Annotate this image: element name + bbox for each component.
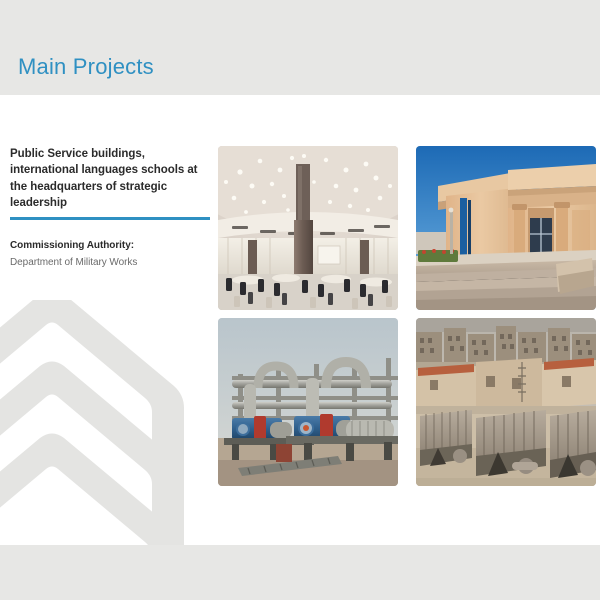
commissioning-authority: Commissioning Authority: Department of M… [10, 238, 215, 270]
photo-interior-hall[interactable] [218, 146, 398, 310]
commissioning-authority-label: Commissioning Authority: [10, 238, 215, 253]
commissioning-authority-value: Department of Military Works [10, 255, 215, 270]
photo-building-facade[interactable] [416, 146, 596, 310]
project-heading: Public Service buildings, international … [10, 146, 215, 211]
photo-chiller-plant-pipes[interactable] [218, 318, 398, 486]
heading-accent-rule [10, 217, 210, 220]
slide-page: Main Projects Public Service buildings, … [0, 0, 600, 600]
project-photo-grid [218, 146, 596, 486]
photo-rooftop-chiller-units[interactable] [416, 318, 596, 486]
page-title: Main Projects [18, 54, 154, 80]
header-band [0, 0, 600, 95]
nested-chevron-logo-icon [0, 300, 212, 545]
content-card: Public Service buildings, international … [0, 95, 600, 545]
project-description: Public Service buildings, international … [10, 146, 215, 270]
